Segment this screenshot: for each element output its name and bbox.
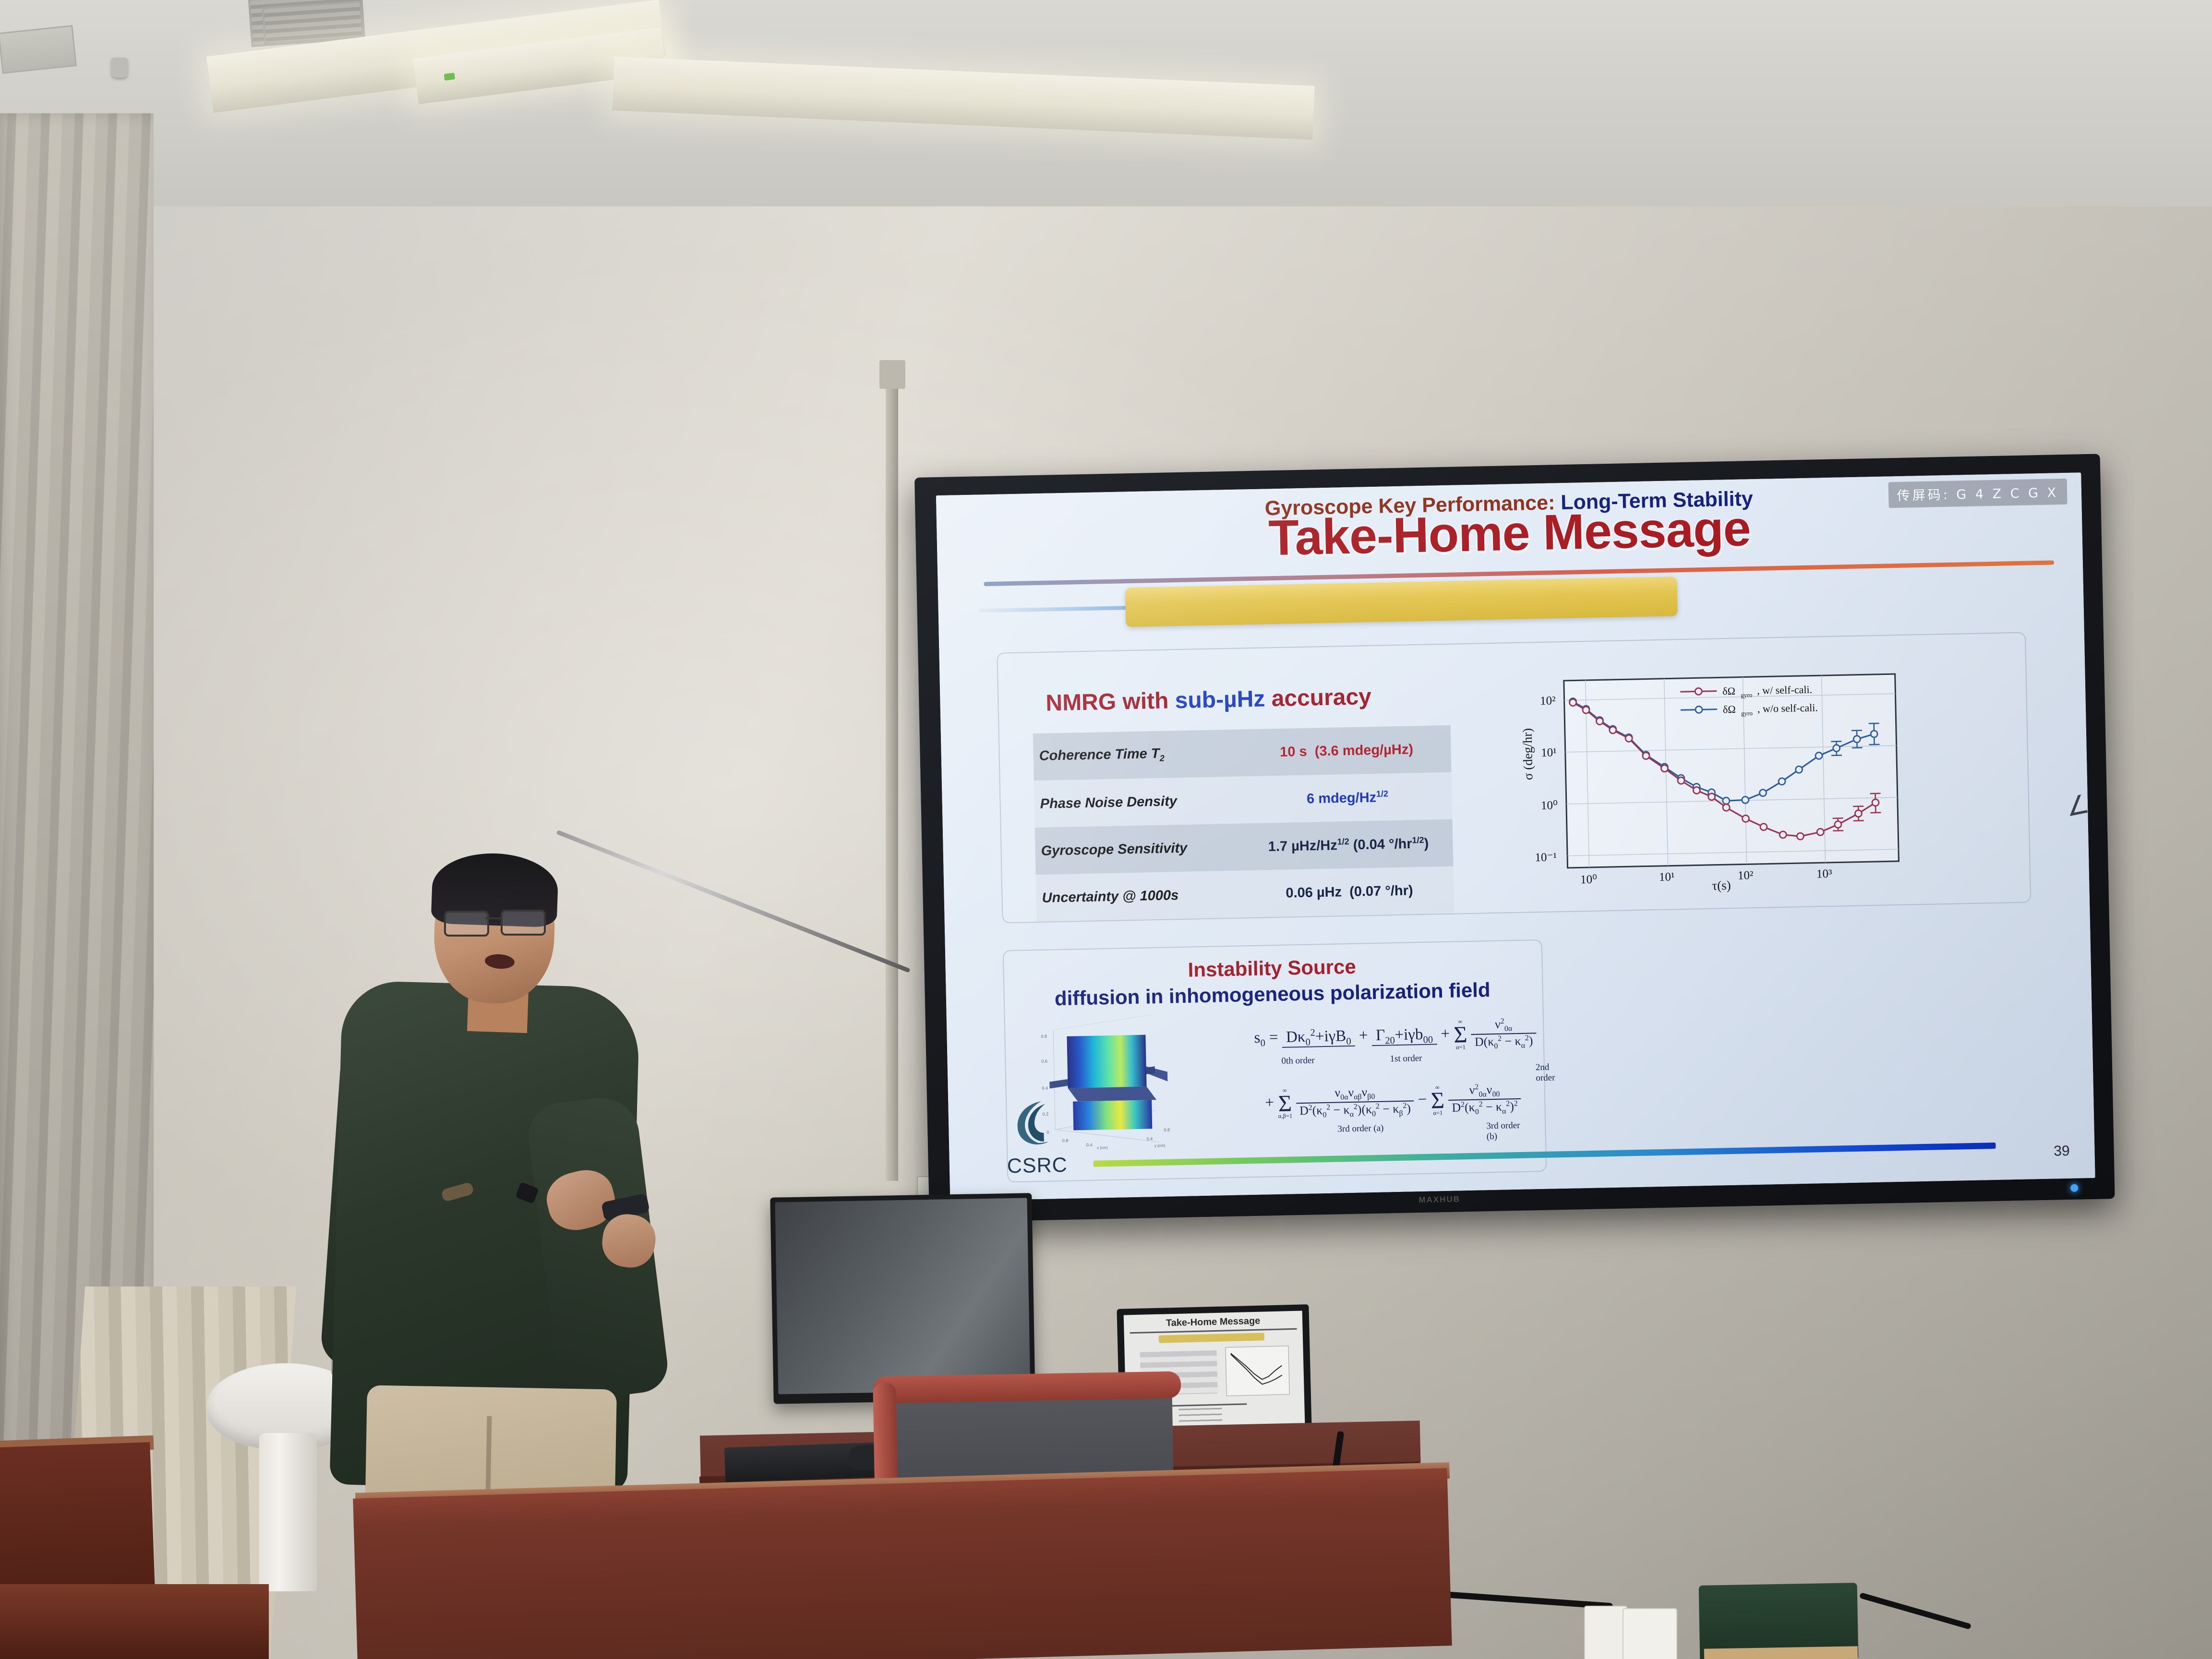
y-tick-label: 10⁻¹	[1523, 850, 1557, 865]
spec-value: 1.7 µHz/Hz1/2 (0.04 °/hr1/2)	[1244, 819, 1454, 871]
chart-x-axis-label: τ(s)	[1712, 878, 1731, 893]
nmrg-heading-part1: NMRG with	[1046, 688, 1175, 716]
sink-pedestal	[259, 1433, 317, 1591]
svg-text:0.4: 0.4	[1042, 1086, 1048, 1091]
nmrg-heading-part2: sub-µHz	[1175, 686, 1265, 713]
monitor-screen	[775, 1198, 1030, 1394]
x-tick-label: 10³	[1816, 867, 1832, 881]
wall-conduit	[886, 365, 898, 1181]
svg-text:, w/ self-cali.: , w/ self-cali.	[1757, 684, 1812, 697]
specifications-table: Coherence Time T2 10 s (3.6 mdeg/µHz) Ph…	[1033, 725, 1455, 922]
svg-text:gyro: gyro	[1741, 709, 1753, 717]
desktop-monitor[interactable]	[770, 1193, 1035, 1404]
instability-heading: Instability Source diffusion in inhomoge…	[1012, 951, 1532, 1011]
wall-outlet[interactable]	[1584, 1606, 1627, 1659]
spec-label: Uncertainty @ 1000s	[1036, 870, 1246, 922]
svg-text:0.8: 0.8	[1062, 1138, 1069, 1143]
front-desk	[353, 1468, 1452, 1659]
spec-label: Coherence Time T2	[1033, 729, 1243, 781]
svg-text:gyro: gyro	[1741, 691, 1752, 698]
glasses-lens-left	[444, 911, 489, 937]
svg-text:, w/o self-cali.: , w/o self-cali.	[1757, 701, 1818, 715]
spec-value: 0.06 µHz (0.07 °/hr)	[1245, 866, 1455, 918]
order-label: 3rd order (a)	[1337, 1123, 1383, 1135]
x-tick-label: 10¹	[1659, 870, 1675, 884]
svg-text:x (cm): x (cm)	[1097, 1145, 1108, 1150]
spec-label: Phase Noise Density	[1034, 776, 1244, 828]
svg-text:δΩ: δΩ	[1723, 703, 1736, 716]
order-label: 0th order	[1281, 1056, 1315, 1067]
allan-deviation-chart: σ (deg/hr) τ(s) 10² 10¹ 10⁰ 10⁻¹ 10⁰ 10¹…	[1525, 666, 1966, 900]
laptop-slide-chart	[1225, 1346, 1289, 1396]
wall-display[interactable]: 传屏码: G 4 Z C G X Take-Home Message Gyros…	[914, 454, 2115, 1222]
svg-text:δΩ: δΩ	[1722, 685, 1735, 697]
banner-text-accent: Long-Term Stability	[1561, 487, 1753, 514]
chair-rim	[874, 1371, 1181, 1403]
organization-label: CSRC	[1007, 1154, 1068, 1178]
order-label: 2nd order	[1536, 1062, 1555, 1084]
display-brand-label: MAXHUB	[1419, 1194, 1460, 1205]
laptop-slide-title: Take-Home Message	[1124, 1314, 1302, 1330]
lecture-room-scene: 传屏码: G 4 Z C G X Take-Home Message Gyros…	[0, 0, 2212, 1659]
svg-text:0.4: 0.4	[1147, 1136, 1153, 1141]
x-tick-label: 10⁰	[1580, 872, 1598, 887]
spec-label: Gyroscope Sensitivity	[1035, 823, 1245, 875]
front-bench	[0, 1584, 269, 1659]
y-tick-label: 10²	[1522, 694, 1556, 708]
spec-value: 6 mdeg/Hz1/2	[1243, 772, 1453, 824]
laptop-slide-banner	[1159, 1333, 1264, 1343]
x-tick-label: 10²	[1738, 869, 1754, 883]
slide-page-number: 39	[2054, 1143, 2070, 1160]
section-banner	[1125, 577, 1678, 627]
chart-svg: δΩ gyro , w/ self-cali. δΩ gyro , w/o se…	[1525, 666, 1966, 900]
curtain-shading	[0, 113, 154, 1486]
wall-outlet-secondary[interactable]	[1623, 1608, 1677, 1659]
sprinkler-head	[111, 58, 128, 78]
table-row: Gyroscope Sensitivity 1.7 µHz/Hz1/2 (0.0…	[1035, 819, 1454, 875]
ceiling-panel	[0, 25, 77, 74]
csrc-logo-icon	[1011, 1097, 1057, 1148]
spec-value: 10 s (3.6 mdeg/µHz)	[1242, 725, 1452, 777]
light-indicator-icon	[444, 72, 456, 81]
conduit-junction-box	[879, 360, 905, 389]
svg-text:0.8: 0.8	[1041, 1034, 1047, 1039]
y-tick-label: 10¹	[1523, 746, 1557, 760]
table-row: Coherence Time T2 10 s (3.6 mdeg/µHz)	[1033, 725, 1452, 781]
glasses-bridge	[485, 917, 502, 919]
svg-text:0.6: 0.6	[1041, 1059, 1047, 1064]
presentation-slide: 传屏码: G 4 Z C G X Take-Home Message Gyros…	[936, 472, 2095, 1201]
green-device-base	[1704, 1646, 1858, 1659]
power-indicator-icon	[2070, 1184, 2078, 1192]
glasses-lens-right	[501, 910, 546, 936]
order-label: 3rd order (b)	[1486, 1120, 1522, 1142]
ceiling-vent-inner	[262, 0, 364, 45]
y-tick-label: 10⁰	[1524, 798, 1558, 813]
nmrg-heading-part3: accuracy	[1265, 684, 1372, 711]
instability-equation-line1: s0 = Dκ02+iγB0 + Γ20+iγb00 + ∞Σα=1 ν20αD…	[1254, 1016, 1537, 1068]
instability-equation-line2: + ∞Σα,β=1 ν0αναβνβ0D2(κ02 − κα2)(κ02 − κ…	[1265, 1082, 1522, 1133]
display-panel: 传屏码: G 4 Z C G X Take-Home Message Gyros…	[936, 472, 2095, 1201]
svg-text:0.8: 0.8	[1164, 1128, 1170, 1132]
table-row: Phase Noise Density 6 mdeg/Hz1/2	[1034, 772, 1453, 828]
table-row: Uncertainty @ 1000s 0.06 µHz (0.07 °/hr)	[1036, 866, 1455, 922]
presenter-glasses-icon	[444, 910, 547, 934]
svg-text:y (cm): y (cm)	[1154, 1143, 1166, 1148]
order-label: 1st order	[1390, 1053, 1422, 1064]
svg-text:0.4: 0.4	[1086, 1142, 1093, 1147]
